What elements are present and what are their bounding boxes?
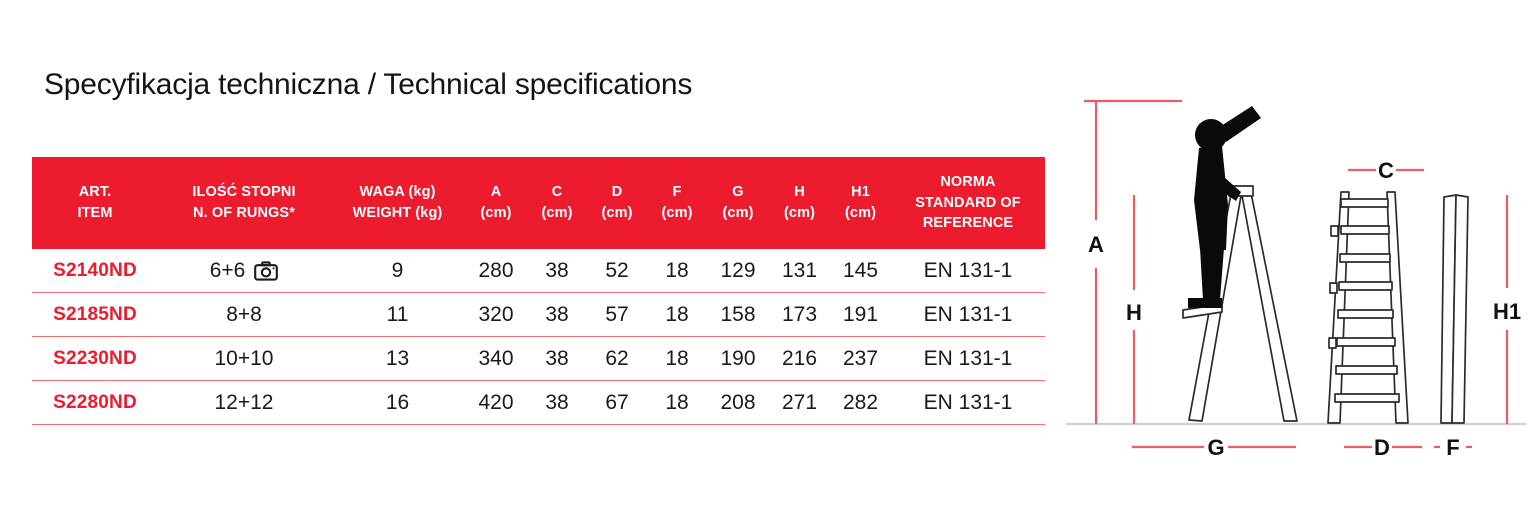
column-header-h-unit: (cm) <box>769 203 830 224</box>
cell-g: 208 <box>707 381 769 425</box>
cell-d: 62 <box>587 337 647 381</box>
cell-d: 67 <box>587 381 647 425</box>
column-header-art-line2: ITEM <box>32 203 158 224</box>
cell-a: 420 <box>465 381 527 425</box>
cell-h1: 145 <box>830 249 891 293</box>
front-ladder-hinge <box>1331 226 1338 236</box>
technical-specifications-table: ART. ITEM ILOŚĆ STOPNI N. OF RUNGS* WAGA… <box>32 157 1045 425</box>
cell-h1: 237 <box>830 337 891 381</box>
front-ladder-rung <box>1336 366 1397 374</box>
column-header-art: ART. ITEM <box>32 157 158 249</box>
table-row: S2185ND 8+8 11 320 38 57 18 158 173 191 … <box>32 293 1045 337</box>
dimension-label-f: F <box>1446 435 1459 460</box>
cell-rungs: 6+6 <box>158 249 330 293</box>
cell-f: 18 <box>647 293 707 337</box>
cell-article-number: S2230ND <box>32 337 158 381</box>
column-header-weight-line1: WAGA (kg) <box>330 182 465 203</box>
rungs-value-group: 6+6 <box>210 259 279 283</box>
front-ladder-rung <box>1339 282 1392 290</box>
cell-rungs: 12+12 <box>158 381 330 425</box>
table-header-row: ART. ITEM ILOŚĆ STOPNI N. OF RUNGS* WAGA… <box>32 157 1045 249</box>
table-body: S2140ND 6+6 9 <box>32 249 1045 425</box>
cell-h: 173 <box>769 293 830 337</box>
cell-h: 131 <box>769 249 830 293</box>
cell-d: 52 <box>587 249 647 293</box>
cell-h: 216 <box>769 337 830 381</box>
cell-a: 320 <box>465 293 527 337</box>
cell-h1: 282 <box>830 381 891 425</box>
cell-f: 18 <box>647 381 707 425</box>
column-header-a-unit: (cm) <box>465 203 527 224</box>
cell-norm: EN 131-1 <box>891 249 1045 293</box>
column-header-f: F (cm) <box>647 157 707 249</box>
cell-c: 38 <box>527 293 587 337</box>
column-header-norm-line2: STANDARD OF <box>891 193 1045 214</box>
cell-f: 18 <box>647 249 707 293</box>
cell-rungs: 10+10 <box>158 337 330 381</box>
side-ladder-rear-rail <box>1241 188 1297 421</box>
column-header-rungs-line1: ILOŚĆ STOPNI <box>158 182 330 203</box>
front-ladder-rung <box>1340 254 1390 262</box>
column-header-g: G (cm) <box>707 157 769 249</box>
cell-a: 340 <box>465 337 527 381</box>
cell-norm: EN 131-1 <box>891 381 1045 425</box>
front-ladder-hinge <box>1330 283 1337 293</box>
dimension-label-g: G <box>1207 435 1224 460</box>
column-header-h-letter: H <box>769 182 830 203</box>
dimension-label-a: A <box>1088 232 1104 257</box>
cell-a: 280 <box>465 249 527 293</box>
cell-g: 129 <box>707 249 769 293</box>
column-header-d-letter: D <box>587 182 647 203</box>
folded-view-ladder: F H1 <box>1434 195 1521 460</box>
table-header: ART. ITEM ILOŚĆ STOPNI N. OF RUNGS* WAGA… <box>32 157 1045 249</box>
cell-c: 38 <box>527 249 587 293</box>
cell-weight: 9 <box>330 249 465 293</box>
column-header-norm-line3: REFERENCE <box>891 213 1045 234</box>
dimension-label-d: D <box>1374 435 1390 460</box>
column-header-a: A (cm) <box>465 157 527 249</box>
front-ladder-rung <box>1341 199 1388 207</box>
column-header-rungs-line2: N. OF RUNGS* <box>158 203 330 224</box>
front-ladder-right-rail <box>1387 192 1408 423</box>
cell-article-number: S2140ND <box>32 249 158 293</box>
cell-h1: 191 <box>830 293 891 337</box>
cell-h: 271 <box>769 381 830 425</box>
column-header-f-unit: (cm) <box>647 203 707 224</box>
column-header-h1: H1 (cm) <box>830 157 891 249</box>
column-header-h1-letter: H1 <box>830 182 891 203</box>
front-ladder-hinge <box>1329 338 1336 348</box>
column-header-weight-line2: WEIGHT (kg) <box>330 203 465 224</box>
table-row: S2230ND 10+10 13 340 38 62 18 190 216 23… <box>32 337 1045 381</box>
side-view-with-person: A H G <box>1084 101 1297 460</box>
column-header-g-unit: (cm) <box>707 203 769 224</box>
cell-g: 158 <box>707 293 769 337</box>
front-ladder-rung <box>1335 394 1399 402</box>
cell-f: 18 <box>647 337 707 381</box>
column-header-art-line1: ART. <box>32 182 158 203</box>
column-header-weight: WAGA (kg) WEIGHT (kg) <box>330 157 465 249</box>
column-header-a-letter: A <box>465 182 527 203</box>
front-ladder-rung <box>1337 338 1395 346</box>
cell-c: 38 <box>527 381 587 425</box>
column-header-d: D (cm) <box>587 157 647 249</box>
cell-rungs: 8+8 <box>158 293 330 337</box>
column-header-c-unit: (cm) <box>527 203 587 224</box>
column-header-g-letter: G <box>707 182 769 203</box>
cell-norm: EN 131-1 <box>891 293 1045 337</box>
cell-c: 38 <box>527 337 587 381</box>
cell-weight: 13 <box>330 337 465 381</box>
column-header-c: C (cm) <box>527 157 587 249</box>
cell-norm: EN 131-1 <box>891 337 1045 381</box>
dimension-label-c: C <box>1378 158 1394 183</box>
rungs-value: 6+6 <box>210 259 246 283</box>
cell-weight: 16 <box>330 381 465 425</box>
table-row: S2140ND 6+6 9 <box>32 249 1045 293</box>
column-header-h: H (cm) <box>769 157 830 249</box>
front-ladder-rung <box>1338 310 1393 318</box>
front-view-ladder: C D <box>1328 158 1424 460</box>
cell-article-number: S2280ND <box>32 381 158 425</box>
cell-d: 57 <box>587 293 647 337</box>
camera-icon <box>254 261 278 281</box>
ladder-dimension-diagram: .dimline { stroke:#F05B63; stroke-width:… <box>1056 0 1536 524</box>
column-header-f-letter: F <box>647 182 707 203</box>
dimension-label-h: H <box>1126 300 1142 325</box>
column-header-c-letter: C <box>527 182 587 203</box>
column-header-rungs: ILOŚĆ STOPNI N. OF RUNGS* <box>158 157 330 249</box>
column-header-norm-line1: NORMA <box>891 172 1045 193</box>
front-ladder-rung <box>1341 226 1389 234</box>
page-title: Specyfikacja techniczna / Technical spec… <box>44 68 692 102</box>
spec-table-container: ART. ITEM ILOŚĆ STOPNI N. OF RUNGS* WAGA… <box>32 157 1045 425</box>
cell-g: 190 <box>707 337 769 381</box>
column-header-h1-unit: (cm) <box>830 203 891 224</box>
column-header-d-unit: (cm) <box>587 203 647 224</box>
column-header-norm: NORMA STANDARD OF REFERENCE <box>891 157 1045 249</box>
cell-article-number: S2185ND <box>32 293 158 337</box>
dimension-label-h1: H1 <box>1493 299 1521 324</box>
table-row: S2280ND 12+12 16 420 38 67 18 208 271 28… <box>32 381 1045 425</box>
cell-weight: 11 <box>330 293 465 337</box>
